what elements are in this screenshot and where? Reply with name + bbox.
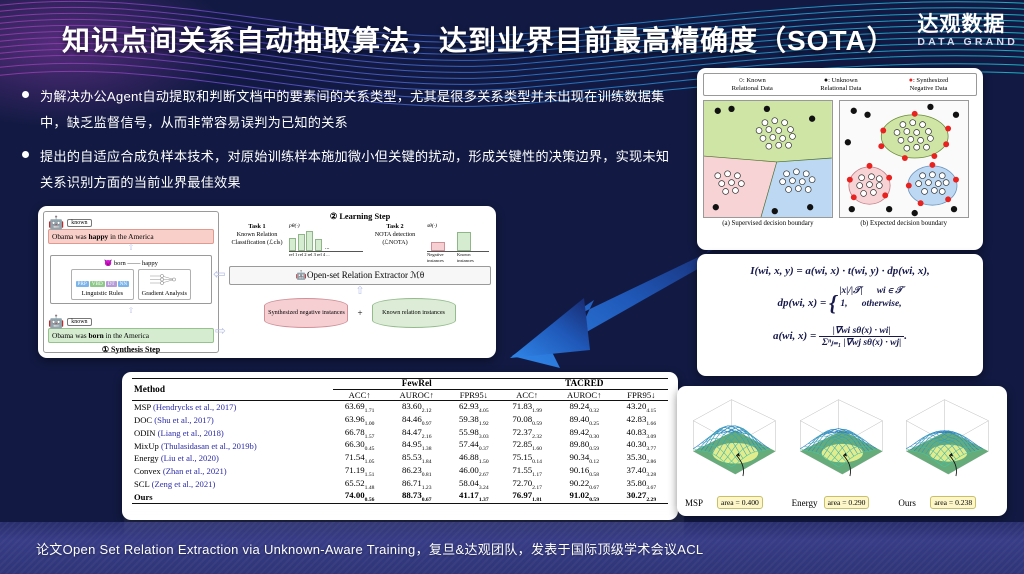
cell-value: 62.934.05: [447, 401, 500, 414]
up-arrow-icon: ⇧: [48, 244, 214, 252]
surface-area-badge: area = 0.238: [930, 496, 976, 509]
case-2-cond: otherwise,: [862, 299, 902, 309]
expected-boundary-plot: [839, 100, 969, 218]
table-row: Convex (Zhan et al., 2021)71.191.5186.23…: [132, 465, 668, 478]
cell-value: 66.300.45: [333, 439, 386, 452]
learning-step-box: ② Learning Step Task 1 Known Relation Cl…: [219, 211, 491, 353]
footer-reflection: [124, 506, 684, 540]
col-group-tacred: TACRED: [500, 379, 668, 390]
table-row: MixUp (Thulasidasan et al., 2019b)66.300…: [132, 439, 668, 452]
cell-value: 72.372.32: [500, 427, 553, 440]
linguistic-rules-box: PRPVBDDTNN Linguistic Rules: [71, 269, 134, 300]
cell-value: 65.521.48: [333, 478, 386, 491]
figure-loss-surfaces: MSParea = 0.400Energyarea = 0.290Oursare…: [677, 386, 1007, 516]
surface-plot: Energyarea = 0.290: [790, 392, 895, 510]
cell-value: 63.961.00: [333, 414, 386, 427]
surface-row: MSParea = 0.400Energyarea = 0.290Oursare…: [683, 392, 1001, 510]
bar-tick: rel 4: [317, 252, 325, 257]
legend-item-synth: ●: Synthesized Negative Data: [909, 76, 949, 93]
cell-value: 35.803.67: [615, 478, 668, 491]
step-2-label: ② Learning Step: [229, 211, 491, 221]
legend-label: : Known: [743, 77, 766, 84]
cell-value: 89.420.30: [554, 427, 615, 440]
list-item: 为解决办公Agent自动提取和判断文档中的要素间的关系类型，尤其是很多关系类型并…: [22, 84, 682, 136]
cell-value: 71.551.17: [500, 465, 553, 478]
up-arrow-icon: ⇧: [229, 286, 491, 297]
legend-item-unknown: ●: Unknown Relational Data: [820, 76, 861, 93]
figure-decision-boundary: ●: Known Relational Data ●: Unknown Rela…: [697, 68, 983, 250]
cell-value: 90.340.12: [554, 452, 615, 465]
relation-extractor-box: 🤖Open-set Relation Extractor ℳθ: [229, 266, 491, 285]
cell-value: 35.302.86: [615, 452, 668, 465]
fraction-denominator: Σⁿⱼ₌₁ |∇wj sθ(x) · wj|: [819, 337, 904, 348]
emphasis-arrow-icon: [498, 240, 713, 385]
cell-value: 86.230.81: [386, 465, 447, 478]
surface-label: Energy: [792, 498, 818, 508]
table-row: SCL (Zeng et al., 2021)65.521.4886.711.2…: [132, 478, 668, 491]
cell-value: 43.204.15: [615, 401, 668, 414]
task1-line3: Classification (ℒcls): [229, 239, 285, 247]
case-1-value: |x|/|𝒯|: [839, 286, 862, 296]
bar-tick: ...: [326, 252, 329, 257]
sentence-keyword: born: [89, 331, 104, 340]
legend-sublabel: Relational Data: [732, 85, 773, 93]
figure-formula: I(wi, x, y) = a(wi, x) · t(wi, y) · dp(w…: [697, 254, 983, 376]
cell-method: MSP (Hendrycks et al., 2017): [132, 401, 333, 414]
cell-value: 90.160.58: [554, 465, 615, 478]
cell-value: 74.000.56: [333, 490, 386, 503]
caption-a: (a) Supervised decision boundary: [703, 220, 833, 227]
cell-method: Convex (Zhan et al., 2021): [132, 465, 333, 478]
legend-item-known: ●: Known Relational Data: [732, 76, 773, 93]
cell-value: 88.730.67: [386, 490, 447, 503]
sentence-keyword: happy: [89, 232, 109, 241]
cell-value: 72.851.60: [500, 439, 553, 452]
cell-value: 83.602.12: [386, 401, 447, 414]
surface-label: Ours: [898, 498, 916, 508]
relation-arrow-label: born —— happy: [114, 260, 158, 267]
step-1-label: ① Synthesis Step: [48, 345, 214, 354]
fraction-numerator: |∇wi sθ(x) · wi|: [819, 325, 904, 337]
task2-line2: NOTA detection: [367, 231, 423, 239]
cell-value: 40.303.77: [615, 439, 668, 452]
cell-value: 84.951.38: [386, 439, 447, 452]
col-header-fewrel-fpr95: FPR95↓: [447, 390, 500, 401]
cell-method: ODIN (Liang et al., 2018): [132, 427, 333, 440]
cell-value: 30.272.29: [615, 490, 668, 503]
col-header-tacred-auroc: AUROC↑: [554, 390, 615, 401]
cell-value: 76.971.81: [500, 490, 553, 503]
cell-value: 91.020.59: [554, 490, 615, 503]
boundary-legend: ●: Known Relational Data ●: Unknown Rela…: [703, 73, 977, 96]
cell-method: Energy (Liu et al., 2020): [132, 452, 333, 465]
synthesis-step-box: 🤖 known Obama was happy in the America ⇧…: [43, 211, 219, 353]
extractor-label: Open-set Relation Extractor ℳθ: [307, 270, 424, 280]
cell-value: 90.220.67: [554, 478, 615, 491]
table-row: ODIN (Liang et al., 2018)66.781.5784.472…: [132, 427, 668, 440]
cell-value: 40.833.09: [615, 427, 668, 440]
col-header-tacred-acc: ACC↑: [500, 390, 553, 401]
surface-canvas: [896, 392, 1001, 478]
cell-method: DOC (Shu et al., 2017): [132, 414, 333, 427]
left-arrow-icon: ⇦: [213, 265, 226, 284]
cell-value: 66.781.57: [333, 427, 386, 440]
pos-tag: DT: [106, 281, 117, 287]
synthesized-negatives-cylinder: Synthesized negative instances: [264, 298, 348, 328]
cell-value: 71.831.99: [500, 401, 553, 414]
cell-value: 89.240.32: [554, 401, 615, 414]
pos-tag: NN: [118, 281, 130, 287]
cell-value: 37.403.28: [615, 465, 668, 478]
robot-icon: 🤖: [48, 216, 64, 229]
col-group-fewrel: FewRel: [333, 379, 501, 390]
cell-value: 57.440.37: [447, 439, 500, 452]
robot-icon: 🤖: [48, 315, 64, 328]
slide-root: 知识点间关系自动抽取算法，达到业界目前最高精确度（SOTA） 达观数据 DATA…: [0, 0, 1024, 574]
logo-text-cn: 达观数据: [917, 14, 1018, 36]
network-icon: [144, 274, 184, 285]
neg-instances-label: Negative instances: [427, 252, 453, 263]
formula-line-1: I(wi, x, y) = a(wi, x) · t(wi, y) · dp(w…: [703, 265, 977, 277]
results-table-panel: Method FewRel TACRED ACC↑ AUROC↑ FPR95↓ …: [122, 372, 678, 520]
brand-logo: 达观数据 DATA GRAND: [917, 14, 1018, 48]
brace-icon: {: [829, 290, 837, 315]
cell-value: 86.711.23: [386, 478, 447, 491]
col-header-method: Method: [132, 379, 333, 401]
col-header-fewrel-auroc: AUROC↑: [386, 390, 447, 401]
formula-line-2: dp(wi, x) = { |x|/|𝒯| wi ∈ 𝒯 1, otherwis…: [703, 285, 977, 316]
right-arrow-icon: ⇨: [215, 323, 226, 339]
cell-value: 85.531.84: [386, 452, 447, 465]
cell-value: 70.080.59: [500, 414, 553, 427]
known-instances-cylinder: Known relation instances: [372, 298, 456, 328]
surface-canvas: [683, 392, 788, 478]
legend-label: : Synthesized: [913, 77, 948, 84]
surface-plot: Oursarea = 0.238: [896, 392, 1001, 510]
linguistic-rules-label: Linguistic Rules: [75, 290, 130, 297]
cell-value: 89.400.25: [554, 414, 615, 427]
surface-label: MSP: [685, 498, 703, 508]
legend-sublabel: Negative Data: [909, 85, 949, 93]
cell-value: 63.691.71: [333, 401, 386, 414]
table-row: Energy (Liu et al., 2020)71.541.0585.531…: [132, 452, 668, 465]
list-item: 提出的自适应合成负样本技术，对原始训练样本施加微小但关键的扰动，形成关键性的决策…: [22, 144, 682, 196]
results-table: Method FewRel TACRED ACC↑ AUROC↑ FPR95↓ …: [132, 378, 668, 504]
formula-line-2-lhs: dp(wi, x) =: [777, 297, 826, 309]
case-2-value: 1,: [840, 299, 847, 309]
task1-line2: Known Relation: [229, 231, 285, 239]
pos-tag: PRP: [76, 281, 89, 287]
cell-value: 75.150.14: [500, 452, 553, 465]
cell-value: 71.541.05: [333, 452, 386, 465]
known-tag: known: [67, 219, 91, 227]
surface-area-badge: area = 0.290: [824, 496, 870, 509]
cell-value: 84.460.97: [386, 414, 447, 427]
formula-cases: |x|/|𝒯| wi ∈ 𝒯 1, otherwise,: [839, 285, 902, 311]
figure-framework: 🤖 known Obama was happy in the America ⇧…: [38, 206, 496, 358]
table-row: MSP (Hendrycks et al., 2017)63.691.7183.…: [132, 401, 668, 414]
results-table-body: MSP (Hendrycks et al., 2017)63.691.7183.…: [132, 401, 668, 504]
formula-line-3-lhs: a(wi, x) =: [773, 331, 816, 343]
known-tag: known: [67, 318, 91, 326]
up-arrow-icon: ⇧: [48, 307, 214, 315]
page-title: 知识点间关系自动抽取算法，达到业界目前最高精确度（SOTA）: [62, 19, 896, 59]
supervised-boundary-plot: [703, 100, 833, 218]
gradient-analysis-box: Gradient Analysis: [138, 269, 191, 300]
period: .: [904, 331, 907, 343]
bar-tick: rel 2: [298, 252, 306, 257]
cell-value: 41.171.37: [447, 490, 500, 503]
plus-sign: +: [357, 308, 362, 318]
cell-value: 89.800.59: [554, 439, 615, 452]
cell-value: 84.472.16: [386, 427, 447, 440]
task2-line3: (ℒNOTA): [367, 239, 423, 247]
bullet-dot-icon: [22, 91, 29, 98]
known-instances-label: Known instances: [457, 252, 483, 263]
cell-method: SCL (Zeng et al., 2021): [132, 478, 333, 491]
sentence-known: Obama was born in the America: [48, 328, 214, 343]
task1-bar-chart: ...: [289, 229, 363, 251]
bullet-dot-icon: [22, 151, 29, 158]
cell-value: 42.831.66: [615, 414, 668, 427]
bullet-list: 为解决办公Agent自动提取和判断文档中的要素间的关系类型，尤其是很多关系类型并…: [22, 84, 682, 204]
bullet-text: 为解决办公Agent自动提取和判断文档中的要素间的关系类型，尤其是很多关系类型并…: [40, 84, 682, 136]
task2-title: Task 2: [367, 223, 423, 231]
sentence-positive: Obama was happy in the America: [48, 229, 214, 244]
col-header-tacred-fpr95: FPR95↓: [615, 390, 668, 401]
col-header-fewrel-acc: ACC↑: [333, 390, 386, 401]
bullet-text: 提出的自适应合成负样本技术，对原始训练样本施加微小但关键的扰动，形成关键性的决策…: [40, 144, 682, 196]
robot-icon: 🤖: [296, 270, 307, 280]
bar-tick: rel 3: [308, 252, 316, 257]
cell-value: 58.043.24: [447, 478, 500, 491]
gradient-analysis-label: Gradient Analysis: [142, 290, 187, 297]
cell-value: 71.191.51: [333, 465, 386, 478]
task1-title: Task 1: [229, 223, 285, 231]
surface-area-badge: area = 0.400: [717, 496, 763, 509]
cell-value: 72.702.17: [500, 478, 553, 491]
case-1-cond: wi ∈ 𝒯: [877, 286, 903, 296]
bar-tick: rel 1: [289, 252, 297, 257]
footer-caption: 论文Open Set Relation Extraction via Unkno…: [36, 539, 703, 558]
surface-plot: MSParea = 0.400: [683, 392, 788, 510]
cell-method: Ours: [132, 490, 333, 503]
cell-value: 59.381.92: [447, 414, 500, 427]
cell-value: 55.983.03: [447, 427, 500, 440]
fraction: |∇wi sθ(x) · wi| Σⁿⱼ₌₁ |∇wj sθ(x) · wj|: [819, 325, 904, 348]
logo-text-en: DATA GRAND: [917, 36, 1018, 48]
surface-canvas: [790, 392, 895, 478]
task2-bar-chart: [427, 229, 489, 251]
pos-tag: VBD: [90, 281, 105, 287]
table-row: DOC (Shu et al., 2017)63.961.0084.460.97…: [132, 414, 668, 427]
legend-label: : Unknown: [828, 77, 858, 84]
cell-value: 46.002.67: [447, 465, 500, 478]
table-row: Ours74.000.5688.730.6741.171.3776.971.81…: [132, 490, 668, 503]
cell-method: MixUp (Thulasidasan et al., 2019b): [132, 439, 333, 452]
cell-value: 46.881.50: [447, 452, 500, 465]
legend-sublabel: Relational Data: [820, 85, 861, 93]
caption-b: (b) Expected decision boundary: [839, 220, 969, 227]
formula-line-3: a(wi, x) = |∇wi sθ(x) · wi| Σⁿⱼ₌₁ |∇wj s…: [703, 325, 977, 348]
devil-icon: 😈: [104, 260, 112, 267]
analysis-box: 😈 born —— happy PRPVBDDTNN Linguistic Ru…: [50, 255, 212, 304]
